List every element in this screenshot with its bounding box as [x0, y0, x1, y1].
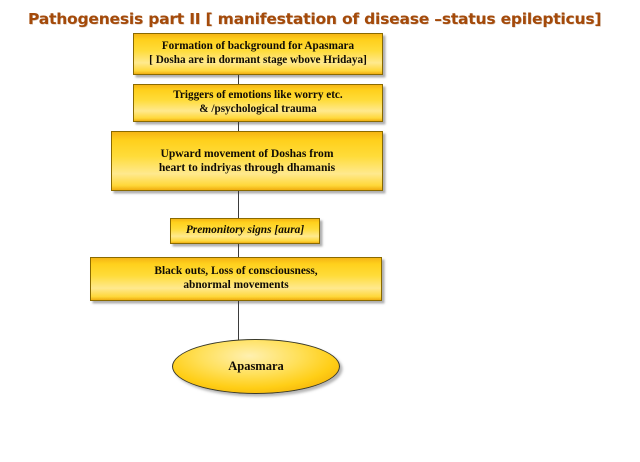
flow-node-line1: Premonitory signs [aura]	[186, 224, 304, 236]
flow-node-line2: [ Dosha are in dormant stage wbove Hrida…	[149, 54, 367, 68]
connector-line-2	[238, 122, 239, 131]
flow-node-line2: heart to indriyas through dhamanis	[159, 161, 335, 175]
flow-node-line2: abnormal movements	[154, 279, 317, 293]
flow-node-formation-of-background[interactable]: Formation of background for Apasmara [ D…	[133, 33, 383, 75]
slide-canvas: Pathogenesis part II [ manifestation of …	[0, 0, 640, 462]
flow-node-apasmara-outcome[interactable]: Apasmara	[172, 339, 340, 394]
flow-node-text: Upward movement of Doshas from heart to …	[153, 147, 341, 175]
flow-node-black-outs[interactable]: Black outs, Loss of consciousness, abnor…	[90, 257, 382, 301]
flow-node-text: Premonitory signs [aura]	[180, 224, 310, 238]
flow-node-text: Formation of background for Apasmara [ D…	[143, 40, 373, 67]
flow-node-line1: Apasmara	[228, 359, 284, 374]
page-title: Pathogenesis part II [ manifestation of …	[28, 10, 601, 28]
connector-line-5	[238, 301, 239, 340]
flow-node-triggers-of-emotions[interactable]: Triggers of emotions like worry etc. & /…	[133, 84, 383, 122]
flow-node-line1: Triggers of emotions like worry etc.	[173, 89, 342, 101]
flow-node-line2: & /psychological trauma	[173, 103, 342, 117]
connector-line-1	[238, 75, 239, 84]
flow-node-premonitory-signs[interactable]: Premonitory signs [aura]	[170, 218, 320, 244]
flow-node-line1: Black outs, Loss of consciousness,	[154, 265, 317, 277]
flow-node-upward-movement-of-doshas[interactable]: Upward movement of Doshas from heart to …	[111, 131, 383, 191]
flow-node-text: Black outs, Loss of consciousness, abnor…	[148, 265, 323, 293]
connector-line-3	[238, 191, 239, 218]
flow-node-text: Triggers of emotions like worry etc. & /…	[167, 89, 348, 116]
flow-node-line1: Formation of background for Apasmara	[162, 40, 354, 52]
flow-node-line1: Upward movement of Doshas from	[160, 147, 333, 160]
connector-line-4	[238, 244, 239, 257]
